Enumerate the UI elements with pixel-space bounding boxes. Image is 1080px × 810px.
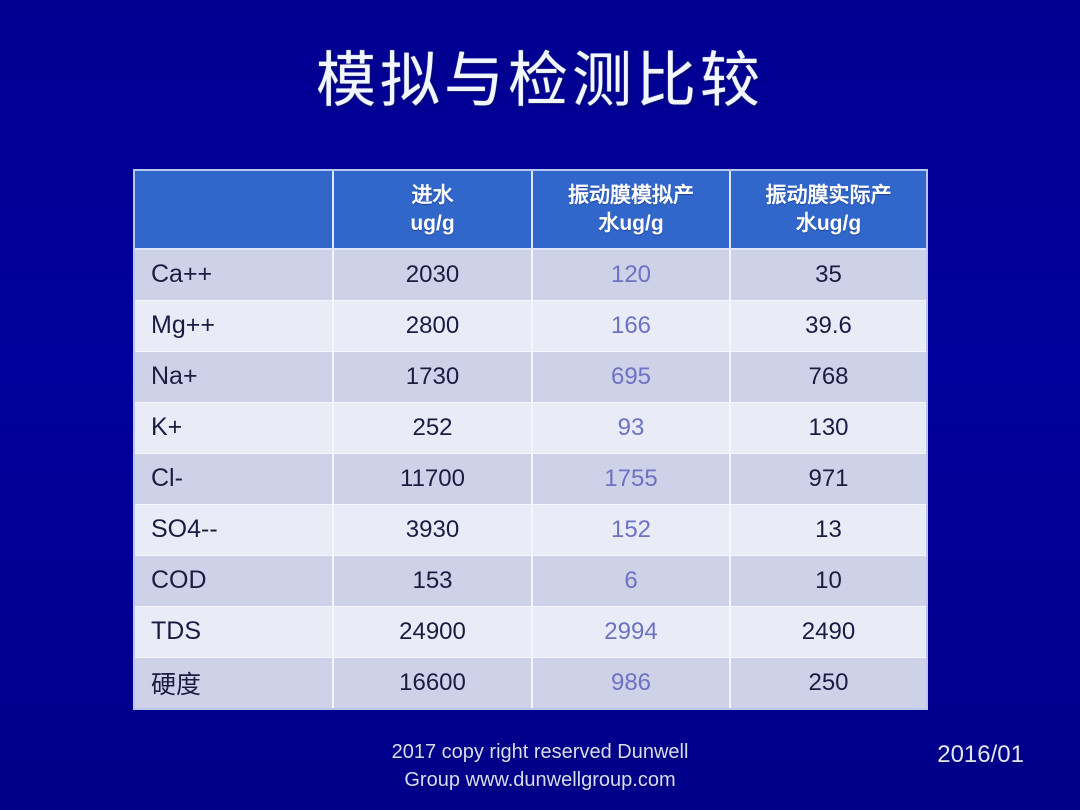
- row-actual-value: 35: [730, 249, 926, 300]
- row-simulated-value: 93: [532, 402, 730, 453]
- row-feed-value: 2030: [333, 249, 532, 300]
- row-feed-value: 153: [333, 555, 532, 606]
- row-simulated-value: 695: [532, 351, 730, 402]
- table-row: Cl- 11700 1755 971: [135, 453, 926, 504]
- table-body: Ca++ 2030 120 35 Mg++ 2800 166 39.6 Na+ …: [135, 249, 926, 708]
- table-row: Na+ 1730 695 768: [135, 351, 926, 402]
- table-header-actual-line2: 水ug/g: [796, 212, 861, 235]
- row-actual-value: 768: [730, 351, 926, 402]
- row-label: 硬度: [135, 657, 333, 708]
- row-feed-value: 1730: [333, 351, 532, 402]
- page-title: 模拟与检测比较: [0, 44, 1080, 118]
- table-header-cell-simulated: 振动膜模拟产 水ug/g: [532, 171, 730, 249]
- row-simulated-value: 1755: [532, 453, 730, 504]
- row-actual-value: 2490: [730, 606, 926, 657]
- row-simulated-value: 986: [532, 657, 730, 708]
- table-row: 硬度 16600 986 250: [135, 657, 926, 708]
- row-feed-value: 3930: [333, 504, 532, 555]
- row-feed-value: 252: [333, 402, 532, 453]
- table-row: SO4-- 3930 152 13: [135, 504, 926, 555]
- table-header-actual-line1: 振动膜实际产: [766, 184, 892, 207]
- row-label: Cl-: [135, 453, 333, 504]
- row-simulated-value: 120: [532, 249, 730, 300]
- row-label: Mg++: [135, 300, 333, 351]
- row-actual-value: 250: [730, 657, 926, 708]
- table-header-cell-actual: 振动膜实际产 水ug/g: [730, 171, 926, 249]
- row-feed-value: 24900: [333, 606, 532, 657]
- row-label: COD: [135, 555, 333, 606]
- footer-copyright-line2: Group www.dunwellgroup.com: [0, 766, 1080, 794]
- table-row: TDS 24900 2994 2490: [135, 606, 926, 657]
- table-row: COD 153 6 10: [135, 555, 926, 606]
- row-actual-value: 971: [730, 453, 926, 504]
- row-actual-value: 13: [730, 504, 926, 555]
- table-header-cell-feed: 进水 ug/g: [333, 171, 532, 249]
- table-header-simulated-line2: 水ug/g: [598, 212, 663, 235]
- row-actual-value: 130: [730, 402, 926, 453]
- row-actual-value: 39.6: [730, 300, 926, 351]
- comparison-table-container: 进水 ug/g 振动膜模拟产 水ug/g 振动膜实际产 水ug/g Ca++: [133, 169, 928, 710]
- row-simulated-value: 166: [532, 300, 730, 351]
- table-header-simulated-line1: 振动膜模拟产: [568, 184, 694, 207]
- footer-copyright-line1: 2017 copy right reserved Dunwell: [0, 738, 1080, 766]
- row-simulated-value: 6: [532, 555, 730, 606]
- comparison-table: 进水 ug/g 振动膜模拟产 水ug/g 振动膜实际产 水ug/g Ca++: [135, 171, 926, 708]
- row-label: Na+: [135, 351, 333, 402]
- row-label: K+: [135, 402, 333, 453]
- row-simulated-value: 152: [532, 504, 730, 555]
- row-label: Ca++: [135, 249, 333, 300]
- table-header-feed-line2: ug/g: [410, 212, 454, 235]
- slide-canvas: 模拟与检测比较 进水 ug/g 振动膜模拟产 水ug/g: [0, 0, 1080, 810]
- table-header: 进水 ug/g 振动膜模拟产 水ug/g 振动膜实际产 水ug/g: [135, 171, 926, 249]
- table-row: Ca++ 2030 120 35: [135, 249, 926, 300]
- row-simulated-value: 2994: [532, 606, 730, 657]
- row-feed-value: 16600: [333, 657, 532, 708]
- row-feed-value: 11700: [333, 453, 532, 504]
- table-header-feed-line1: 进水: [412, 184, 454, 207]
- table-row: Mg++ 2800 166 39.6: [135, 300, 926, 351]
- footer-copyright: 2017 copy right reserved Dunwell Group w…: [0, 738, 1080, 794]
- footer-date: 2016/01: [937, 740, 1024, 770]
- row-actual-value: 10: [730, 555, 926, 606]
- row-label: TDS: [135, 606, 333, 657]
- row-label: SO4--: [135, 504, 333, 555]
- table-row: K+ 252 93 130: [135, 402, 926, 453]
- table-header-cell-blank: [135, 171, 333, 249]
- table-header-row: 进水 ug/g 振动膜模拟产 水ug/g 振动膜实际产 水ug/g: [135, 171, 926, 249]
- row-feed-value: 2800: [333, 300, 532, 351]
